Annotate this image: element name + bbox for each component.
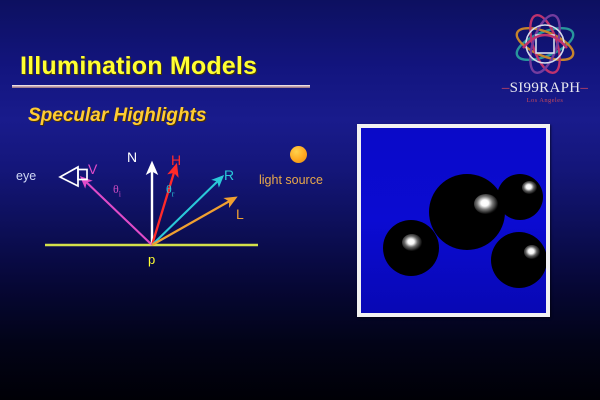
- sphere-center: [429, 174, 505, 250]
- specular-vector-diagram: [0, 130, 340, 290]
- highlight-center: [474, 194, 498, 214]
- vector-n-label: N: [127, 150, 137, 164]
- logo-dash-right: –: [580, 80, 588, 96]
- page-subtitle: Specular Highlights: [28, 105, 206, 127]
- title-divider: [12, 85, 310, 88]
- vector-h-label: H: [171, 153, 181, 167]
- light-source-dot-icon: [290, 146, 307, 163]
- surface-point-label: p: [148, 253, 155, 266]
- slide-canvas: Illumination Models Specular Highlights: [0, 0, 600, 400]
- theta-reflected-label: θr: [166, 183, 174, 198]
- highlight-left: [402, 234, 422, 251]
- sphere-bottom-right: [491, 232, 547, 288]
- logo-wordmark-text: SI99RAPH: [510, 80, 581, 96]
- logo-wordmark: –SI99RAPH–: [495, 80, 595, 97]
- siggraph-logo: –SI99RAPH– Los Angeles: [495, 8, 595, 106]
- sphere-top-right: [497, 174, 543, 220]
- vector-r-label: R: [224, 168, 234, 182]
- highlight-bottom-right: [524, 245, 540, 259]
- highlight-top-right: [522, 181, 537, 194]
- eye-label: eye: [16, 170, 36, 183]
- light-source-label: light source: [259, 173, 323, 187]
- eye-icon: [60, 167, 87, 186]
- rendered-spheres-image: [357, 124, 550, 317]
- vector-v-label: V: [88, 162, 97, 176]
- theta-incident-subscript: i: [119, 189, 121, 198]
- logo-dash-left: –: [502, 80, 510, 96]
- page-title: Illumination Models: [20, 52, 257, 81]
- logo-rings-icon: [495, 8, 595, 80]
- vector-l-label: L: [236, 207, 244, 221]
- theta-reflected-subscript: r: [172, 189, 175, 198]
- theta-incident-label: θi: [113, 183, 121, 198]
- logo-city-text: Los Angeles: [495, 97, 595, 104]
